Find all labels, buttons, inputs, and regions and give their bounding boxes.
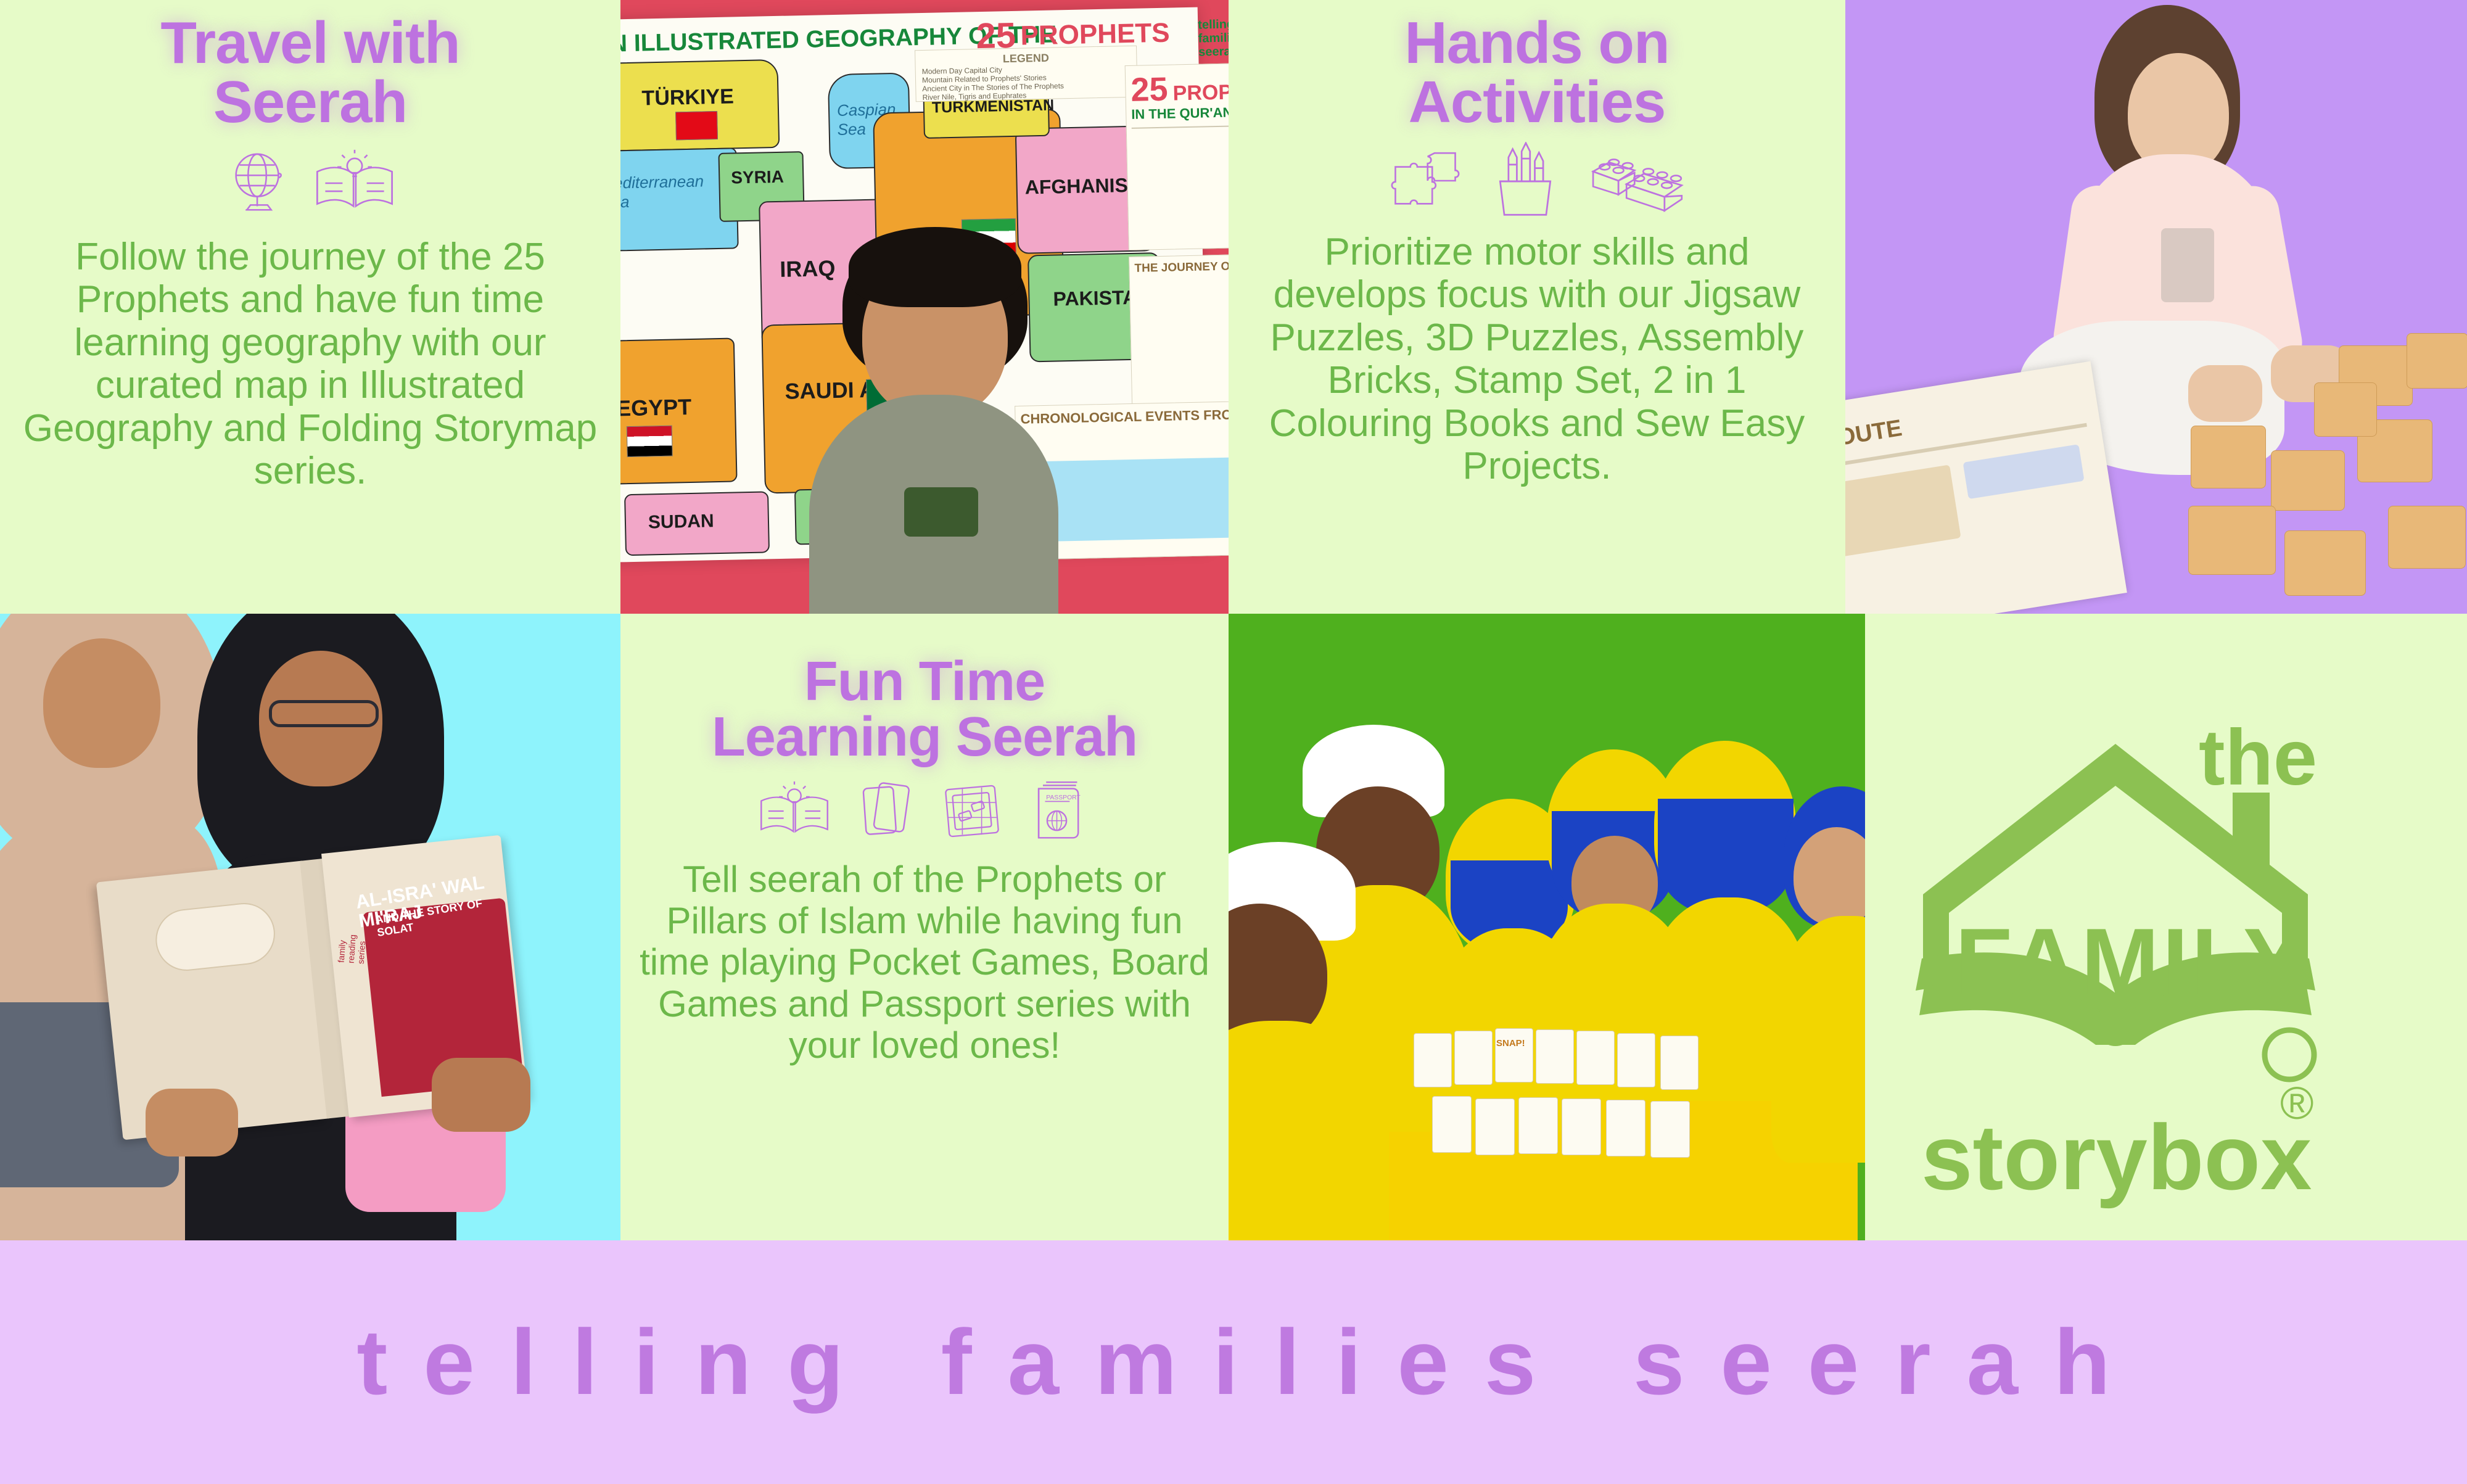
hands-on-title: Hands on Activities bbox=[1404, 14, 1669, 132]
logo-the: the bbox=[2199, 712, 2317, 803]
boy-fringe bbox=[849, 227, 1021, 307]
hands-on-icon-row bbox=[1385, 144, 1689, 217]
game-card bbox=[1617, 1033, 1655, 1087]
puzzle-piece bbox=[2191, 426, 2266, 488]
game-card bbox=[1495, 1028, 1533, 1082]
family-storybox-logo: the FAMILY storybox ® bbox=[1887, 709, 2344, 1178]
globe-icon bbox=[223, 147, 295, 220]
game-card bbox=[1606, 1100, 1645, 1156]
card-game-panel: SNAP! bbox=[1229, 614, 1865, 1240]
hands-on-body: Prioritize motor skills and develops foc… bbox=[1247, 231, 1827, 488]
puzzle-piece bbox=[2407, 333, 2467, 389]
puzzle-piece bbox=[2388, 506, 2466, 569]
travel-title-line1: Travel with bbox=[160, 10, 459, 76]
reading-girls-panel: AL-ISRA' WAL MI'RAJ AND THE STORY OF SOL… bbox=[0, 614, 620, 1240]
playing-cards-icon bbox=[851, 779, 919, 843]
logo-storybox: storybox bbox=[1921, 1104, 2312, 1211]
map-photo-panel: AN ILLUSTRATED GEOGRAPHY OF THE 25 PROPH… bbox=[620, 0, 1229, 614]
puzzle-piece bbox=[2284, 530, 2366, 596]
hands-on-title-line1: Hands on bbox=[1404, 10, 1669, 76]
game-card bbox=[1432, 1096, 1472, 1153]
storymap-label: ROUTE bbox=[1845, 415, 1904, 454]
girl-a-face bbox=[43, 638, 160, 768]
logo-registered-mark: ® bbox=[2280, 1077, 2314, 1129]
girl-b-glasses bbox=[269, 700, 379, 727]
logo-family: FAMILY bbox=[1955, 908, 2308, 1016]
travel-body: Follow the journey of the 25 Prophets an… bbox=[20, 236, 600, 493]
boy-shirt-graphic bbox=[904, 487, 978, 537]
fun-time-icon-row: PASSPORT bbox=[756, 778, 1093, 844]
puzzle-girl-shirt-print bbox=[2161, 228, 2214, 302]
game-card bbox=[1475, 1099, 1515, 1155]
game-card bbox=[1454, 1031, 1493, 1085]
puzzle-piece bbox=[2271, 450, 2345, 511]
book-series-label: family reading series bbox=[336, 925, 368, 964]
puzzle-girl-photo: ROUTE bbox=[1845, 0, 2467, 614]
building-bricks-icon bbox=[1584, 146, 1689, 215]
passport-icon: PASSPORT bbox=[1025, 779, 1093, 843]
game-card bbox=[1650, 1101, 1690, 1158]
puzzle-girl-panel: ROUTE bbox=[1845, 0, 2467, 614]
open-book-idea-icon bbox=[756, 779, 833, 843]
puzzle-piece bbox=[2188, 506, 2276, 575]
game-card bbox=[1536, 1029, 1574, 1084]
game-card-label: SNAP! bbox=[1496, 1038, 1525, 1049]
fun-time-title: Fun Time Learning Seerah bbox=[712, 654, 1137, 765]
fun-time-body: Tell seerah of the Prophets or Pillars o… bbox=[628, 859, 1221, 1066]
girl-hand-right bbox=[432, 1058, 530, 1132]
travel-icon-row bbox=[223, 147, 398, 220]
jigsaw-puzzle-icon bbox=[1385, 146, 1466, 215]
girl-hand-left bbox=[146, 1089, 238, 1156]
travel-text-block: Travel with Seerah bbox=[6, 7, 614, 493]
hands-on-title-line2: Activities bbox=[1409, 69, 1666, 135]
reading-girls-photo: AL-ISRA' WAL MI'RAJ AND THE STORY OF SOL… bbox=[0, 614, 620, 1240]
poster-canvas: Travel with Seerah bbox=[0, 0, 2467, 1484]
open-book-idea-icon bbox=[311, 147, 398, 220]
puzzle-girl-hand-left bbox=[2188, 365, 2262, 422]
fun-time-title-line2: Learning Seerah bbox=[712, 706, 1137, 768]
travel-title: Travel with Seerah bbox=[160, 14, 459, 132]
fun-time-text-block: Fun Time Learning Seerah bbox=[620, 654, 1229, 1066]
game-card bbox=[1518, 1097, 1558, 1154]
card-game-photo: SNAP! bbox=[1229, 614, 1865, 1240]
footer-bar: telling families seerah bbox=[0, 1240, 2467, 1484]
board-game-icon bbox=[937, 779, 1007, 843]
game-card bbox=[1576, 1031, 1615, 1085]
pencil-cup-icon bbox=[1488, 142, 1562, 220]
game-card bbox=[1660, 1036, 1699, 1090]
game-card bbox=[1562, 1099, 1601, 1155]
footer-tagline: telling families seerah bbox=[321, 1309, 2146, 1416]
boy-with-map-photo bbox=[620, 0, 1229, 614]
hands-on-text-block: Hands on Activities bbox=[1235, 7, 1839, 488]
folding-storymap-sheet: ROUTE bbox=[1845, 361, 2127, 614]
puzzle-piece bbox=[2314, 382, 2377, 437]
travel-title-line2: Seerah bbox=[213, 69, 407, 135]
passport-label: PASSPORT bbox=[1046, 794, 1081, 801]
fun-time-title-line1: Fun Time bbox=[804, 651, 1045, 712]
game-card bbox=[1414, 1033, 1452, 1087]
